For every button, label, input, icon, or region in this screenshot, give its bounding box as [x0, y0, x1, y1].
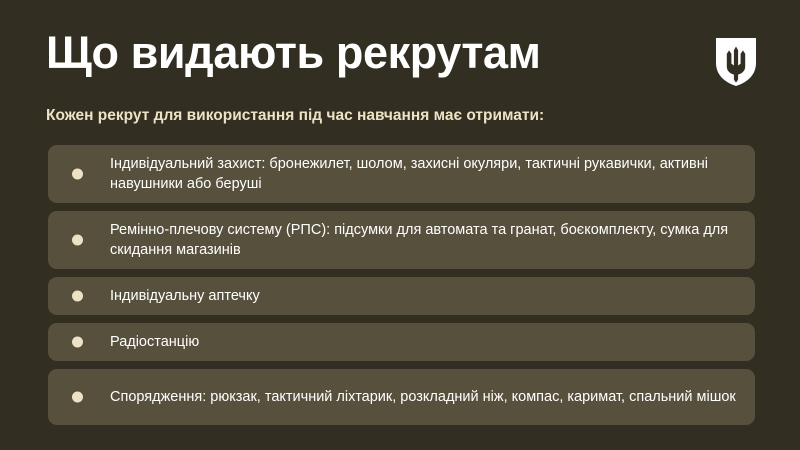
slide-header: Що видають рекрутам Кожен рекрут для вик… [0, 0, 800, 100]
list-item-label: Індивідуальну аптечку [110, 286, 260, 306]
page-title: Що видають рекрутам [46, 27, 541, 79]
list-item: Спорядження: рюкзак, тактичний ліхтарик,… [48, 369, 755, 425]
list-item: Ремінно-плечову систему (РПС): підсумки … [48, 211, 755, 269]
bullet-icon [72, 337, 83, 348]
list-item-label: Спорядження: рюкзак, тактичний ліхтарик,… [110, 387, 736, 407]
bullet-icon [72, 235, 83, 246]
equipment-list: Індивідуальний захист: бронежилет, шолом… [48, 145, 755, 425]
list-item: Радіостанцію [48, 323, 755, 361]
bullet-icon [72, 392, 83, 403]
slide-root: Що видають рекрутам Кожен рекрут для вик… [0, 0, 800, 450]
list-item: Індивідуальний захист: бронежилет, шолом… [48, 145, 755, 203]
list-item-label: Радіостанцію [110, 332, 199, 352]
subtitle: Кожен рекрут для використання під час на… [46, 106, 544, 126]
ukraine-trident-shield-icon [715, 37, 757, 87]
bullet-icon [72, 169, 83, 180]
list-item-label: Ремінно-плечову систему (РПС): підсумки … [110, 220, 739, 260]
bullet-icon [72, 291, 83, 302]
list-item-label: Індивідуальний захист: бронежилет, шолом… [110, 154, 739, 194]
list-item: Індивідуальну аптечку [48, 277, 755, 315]
